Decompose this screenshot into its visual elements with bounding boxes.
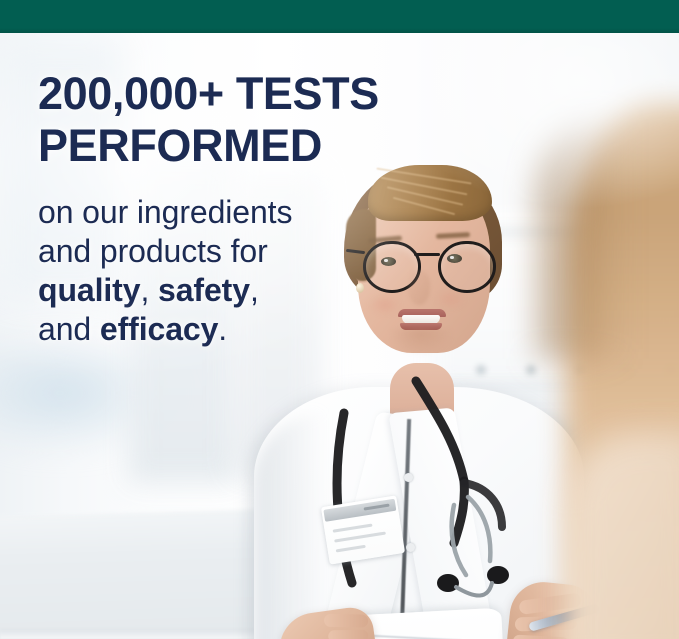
subcopy-emphasis-safety: safety xyxy=(158,272,250,308)
headline-line-1: 200,000+ TESTS xyxy=(38,68,379,119)
subcopy-emphasis-efficacy: efficacy xyxy=(100,311,218,347)
top-accent-bar xyxy=(0,0,679,33)
page-title: 200,000+ TESTS PERFORMED xyxy=(38,68,468,172)
headline-line-2: PERFORMED xyxy=(38,120,322,171)
subcopy-separator: , xyxy=(140,272,158,308)
subcopy: on our ingredients and products for qual… xyxy=(38,193,468,349)
marketing-copy: 200,000+ TESTS PERFORMED on our ingredie… xyxy=(38,68,468,349)
subcopy-line-3: quality, safety, xyxy=(38,272,259,308)
subcopy-emphasis-quality: quality xyxy=(38,272,140,308)
subcopy-line-2: and products for xyxy=(38,233,268,269)
subcopy-line-4-lead: and xyxy=(38,311,100,347)
subcopy-line-4-tail: . xyxy=(218,311,227,347)
id-badge xyxy=(321,495,405,564)
promo-banner: 200,000+ TESTS PERFORMED on our ingredie… xyxy=(0,0,679,639)
subcopy-separator: , xyxy=(250,272,259,308)
subcopy-line-4: and efficacy. xyxy=(38,311,227,347)
patient-hair xyxy=(537,119,627,359)
subcopy-line-1: on our ingredients xyxy=(38,194,292,230)
accent-bar-shadow xyxy=(0,28,679,33)
patient-shoulder xyxy=(569,433,679,639)
